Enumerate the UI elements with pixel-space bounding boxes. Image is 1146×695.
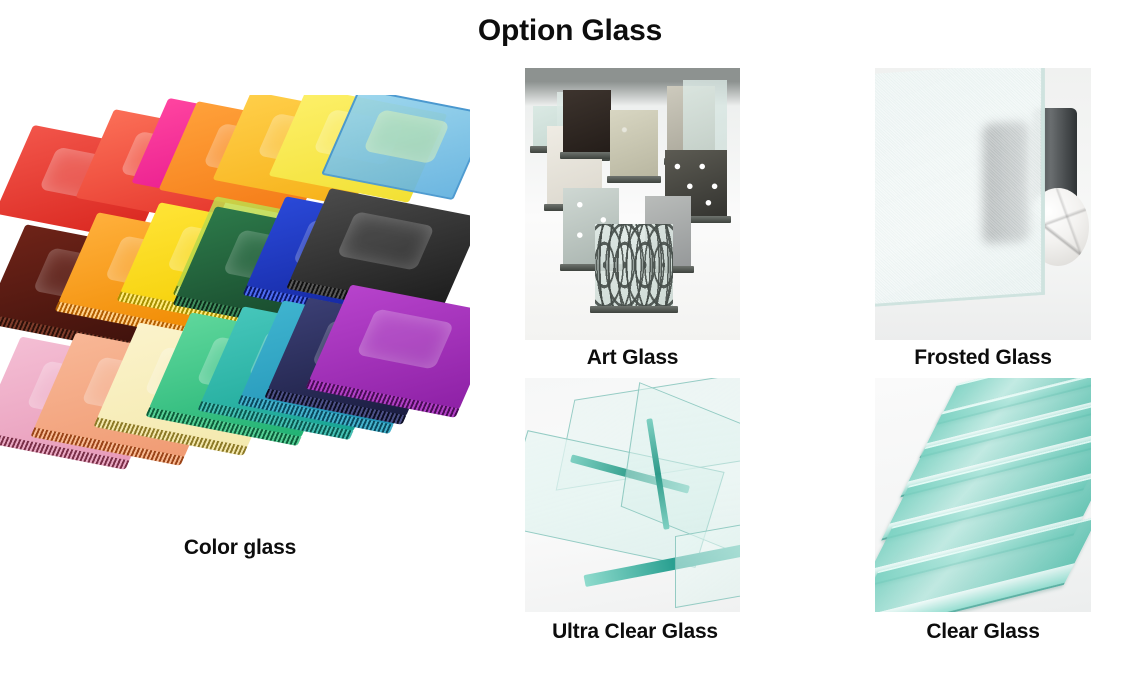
caption-clear-glass: Clear Glass: [875, 620, 1091, 644]
art-glass-sample: [563, 90, 611, 152]
caption-color-glass: Color glass: [90, 536, 390, 560]
image-ultra-clear-glass: [525, 378, 740, 612]
image-frosted-glass: [875, 68, 1091, 340]
slide-canvas: Option Glass: [0, 0, 1146, 695]
caption-frosted-glass: Frosted Glass: [875, 346, 1091, 370]
image-art-glass: [525, 68, 740, 340]
caption-ultra-clear-glass: Ultra Clear Glass: [515, 620, 755, 644]
frosted-glass-pane: [875, 68, 1045, 307]
page-title: Option Glass: [380, 14, 760, 48]
caption-art-glass: Art Glass: [525, 346, 740, 370]
image-color-glass: [0, 95, 470, 515]
art-glass-sample: [610, 110, 658, 176]
art-glass-sample: [595, 224, 673, 306]
image-clear-glass: [875, 378, 1091, 612]
